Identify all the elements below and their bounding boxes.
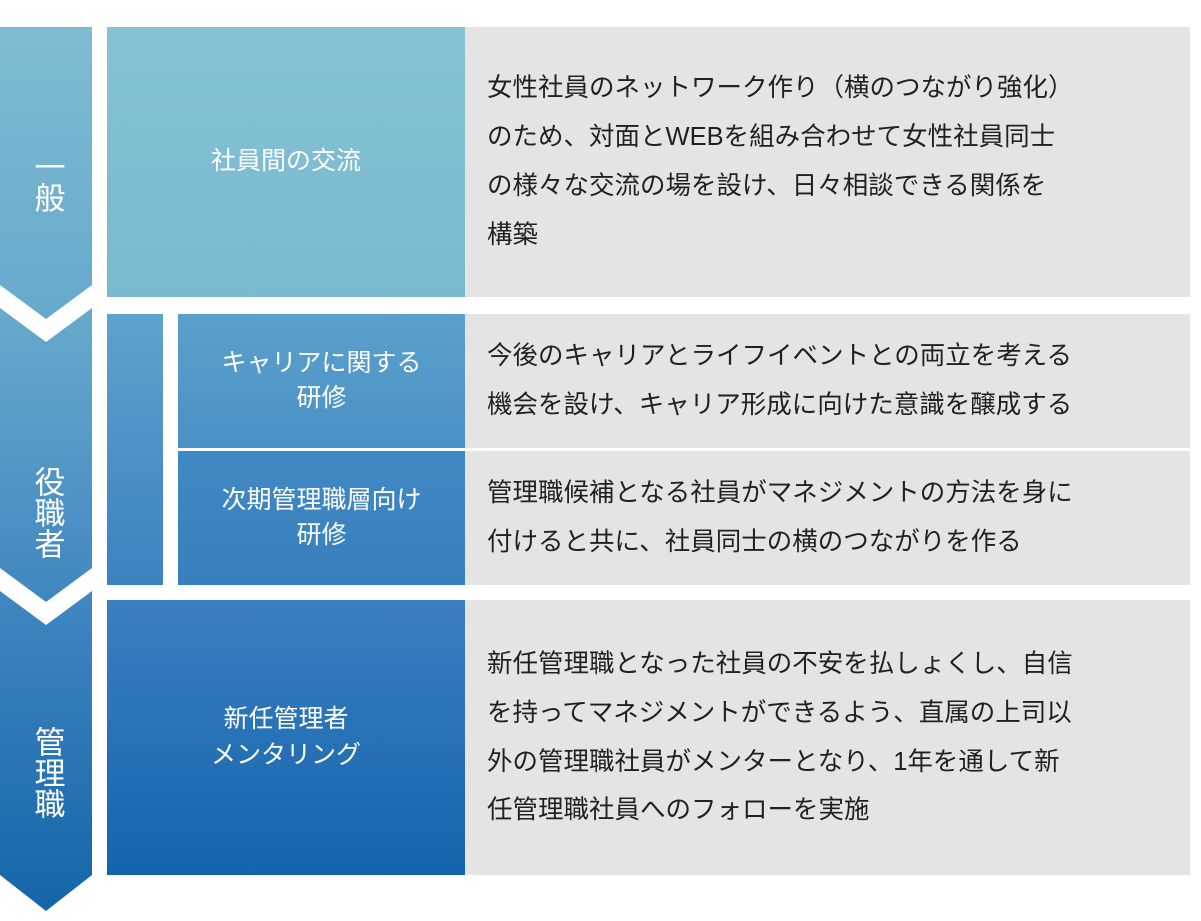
program-label-next-manager-training: 次期管理職層向け研修 [178,451,465,585]
program-label-text: 次期管理職層向け研修 [221,483,421,554]
program-label-new-manager-mentoring: 新任管理者メンタリング [107,600,465,875]
program-description-employee-exchange: 女性社員のネットワーク作り（横のつながり強化） のため、対面とWEBを組み合わせ… [465,27,1190,297]
description-line: の様々な交流の場を設け、日々相談できる関係を [487,162,1168,211]
description-line: を持ってマネジメントができるよう、直属の上司以 [487,689,1168,738]
description-line: 女性社員のネットワーク作り（横のつながり強化） [487,64,1168,113]
career-development-diagram: 一般 役職者 管理職 社員間の交流 女性社員のネットワーク作り（横のつながり強化… [0,0,1201,921]
program-label-career-training: キャリアに関する研修 [178,314,465,448]
description-line: 機会を設け、キャリア形成に向けた意識を醸成する [487,381,1168,430]
career-stage-arrow: 一般 役職者 管理職 [0,27,92,911]
stage-arrow-shape [0,27,92,911]
program-description-new-manager-mentoring: 新任管理職となった社員の不安を払しょくし、自信 を持ってマネジメントができるよう… [465,600,1190,875]
program-description-career-training: 今後のキャリアとライフイベントとの両立を考える 機会を設け、キャリア形成に向けた… [465,314,1190,448]
description-line: のため、対面とWEBを組み合わせて女性社員同士 [487,113,1168,162]
program-row: 次期管理職層向け研修 管理職候補となる社員がマネジメントの方法を身に 付けると共… [178,451,1190,585]
description-line: 構築 [487,211,1168,260]
description-line: 付けると共に、社員同士の横のつながりを作る [487,518,1168,567]
description-line: 新任管理職となった社員の不安を払しょくし、自信 [487,640,1168,689]
program-row: 社員間の交流 女性社員のネットワーク作り（横のつながり強化） のため、対面とWE… [107,27,1190,297]
program-row: 新任管理者メンタリング 新任管理職となった社員の不安を払しょくし、自信 を持って… [107,600,1190,875]
program-label-employee-exchange: 社員間の交流 [107,27,465,297]
program-label-text: キャリアに関する研修 [221,346,421,417]
description-line: 管理職候補となる社員がマネジメントの方法を身に [487,469,1168,518]
program-label-text: 社員間の交流 [211,144,361,180]
description-line: 外の管理職社員がメンターとなり、1年を通して新 [487,738,1168,787]
program-connector-bar [107,314,163,585]
description-line: 任管理職社員へのフォローを実施 [487,786,1168,835]
program-label-text: 新任管理者メンタリング [211,702,361,773]
description-line: 今後のキャリアとライフイベントとの両立を考える [487,332,1168,381]
program-row: キャリアに関する研修 今後のキャリアとライフイベントとの両立を考える 機会を設け… [178,314,1190,448]
program-description-next-manager-training: 管理職候補となる社員がマネジメントの方法を身に 付けると共に、社員同士の横のつな… [465,451,1190,585]
